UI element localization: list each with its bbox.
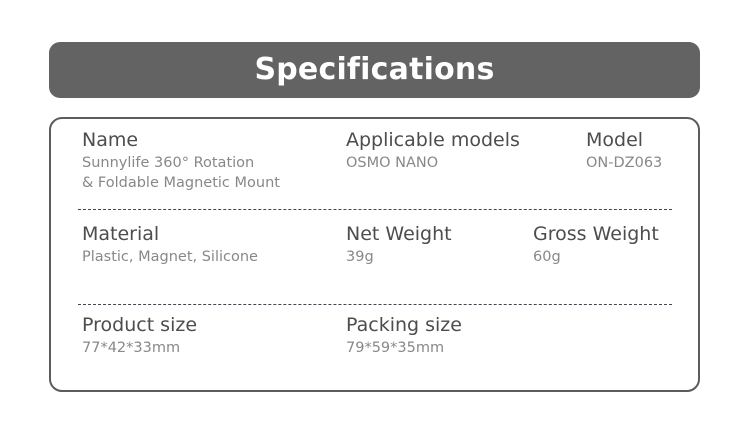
row-separator xyxy=(78,304,672,305)
spec-value: Plastic, Magnet, Silicone xyxy=(82,247,258,267)
spec-value: 39g xyxy=(346,247,452,267)
spec-label: Name xyxy=(82,128,280,153)
spec-label: Gross Weight xyxy=(533,222,659,247)
spec-cell-material: Material Plastic, Magnet, Silicone xyxy=(82,222,258,267)
spec-label: Model xyxy=(586,128,662,153)
spec-row: Name Sunnylife 360° Rotation & Foldable … xyxy=(51,128,698,216)
spec-cell-gross-weight: Gross Weight 60g xyxy=(533,222,659,267)
spec-value: 77*42*33mm xyxy=(82,338,197,358)
row-separator xyxy=(78,209,672,210)
spec-cell-net-weight: Net Weight 39g xyxy=(346,222,452,267)
spec-label: Packing size xyxy=(346,313,462,338)
spec-cell-model: Model ON-DZ063 xyxy=(586,128,662,173)
spec-row: Product size 77*42*33mm Packing size 79*… xyxy=(51,313,698,391)
spec-cell-applicable-models: Applicable models OSMO NANO xyxy=(346,128,520,173)
spec-label: Product size xyxy=(82,313,197,338)
spec-row: Material Plastic, Magnet, Silicone Net W… xyxy=(51,222,698,302)
specifications-card: Name Sunnylife 360° Rotation & Foldable … xyxy=(49,117,700,392)
spec-label: Material xyxy=(82,222,258,247)
spec-value: 60g xyxy=(533,247,659,267)
specifications-table: Name Sunnylife 360° Rotation & Foldable … xyxy=(51,119,698,390)
spec-value: Sunnylife 360° Rotation & Foldable Magne… xyxy=(82,153,280,193)
spec-value: ON-DZ063 xyxy=(586,153,662,173)
spec-label: Net Weight xyxy=(346,222,452,247)
specifications-page: Specifications Name Sunnylife 360° Rotat… xyxy=(0,0,750,439)
specifications-header-banner: Specifications xyxy=(49,42,700,98)
spec-label: Applicable models xyxy=(346,128,520,153)
spec-cell-name: Name Sunnylife 360° Rotation & Foldable … xyxy=(82,128,280,193)
spec-value: 79*59*35mm xyxy=(346,338,462,358)
page-title: Specifications xyxy=(254,55,494,85)
spec-cell-packing-size: Packing size 79*59*35mm xyxy=(346,313,462,358)
spec-cell-product-size: Product size 77*42*33mm xyxy=(82,313,197,358)
spec-value: OSMO NANO xyxy=(346,153,520,173)
